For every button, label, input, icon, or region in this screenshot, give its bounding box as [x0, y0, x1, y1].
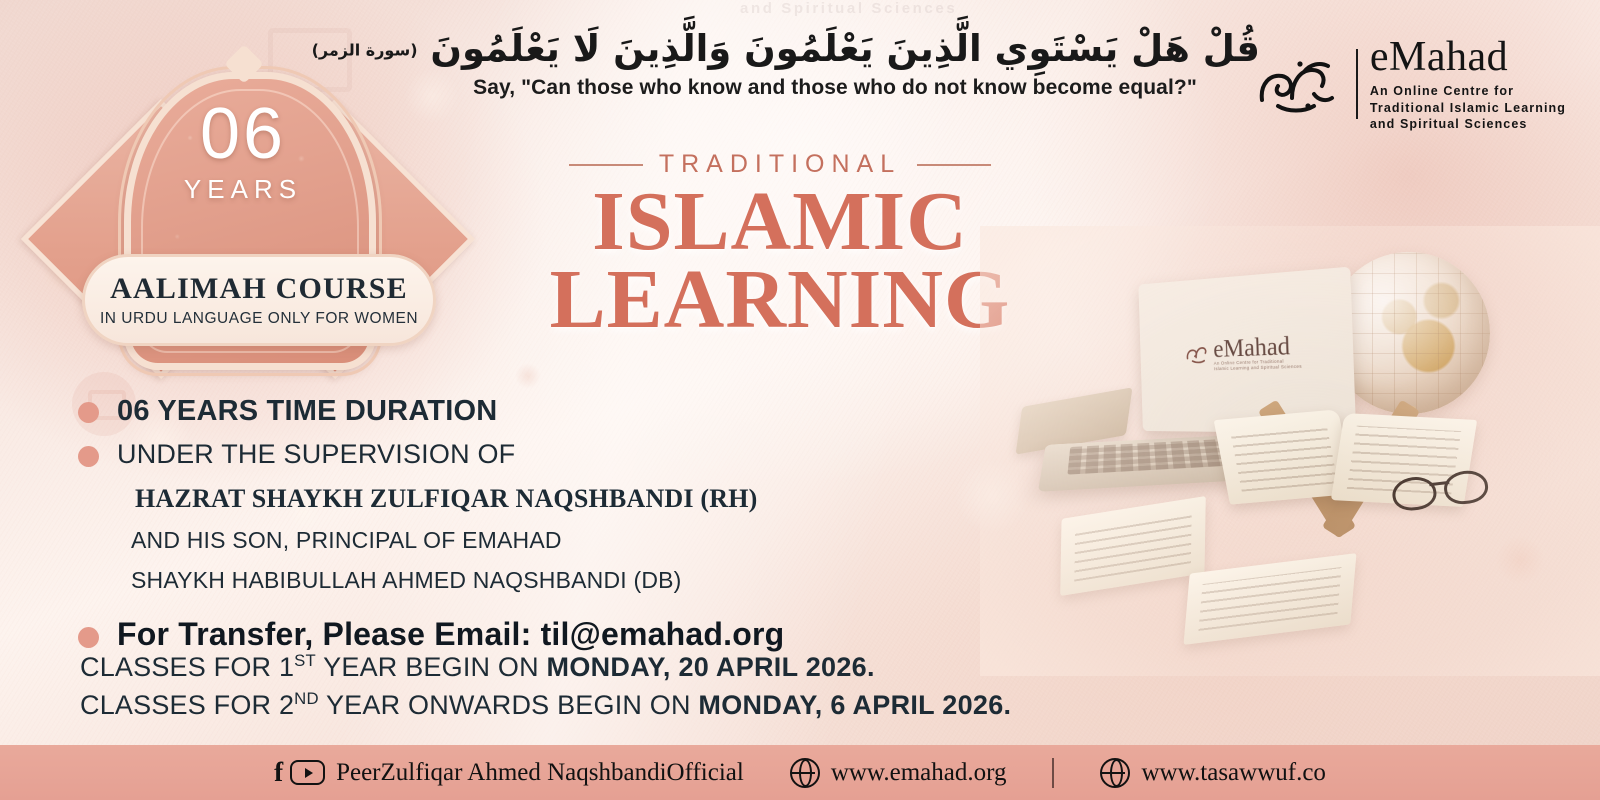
notebook-upper [1060, 496, 1206, 596]
badge-years-label: YEARS [124, 174, 362, 205]
bullet-dot-icon [78, 627, 99, 648]
badge-course-subtitle: IN URDU LANGUAGE ONLY FOR WOMEN [100, 311, 418, 327]
facebook-icon[interactable]: f [274, 759, 283, 786]
headline-line-1: ISLAMIC [500, 183, 1060, 261]
detail-row-supervision: UNDER THE SUPERVISION OF [78, 440, 1038, 470]
glasses-lens-left [1391, 475, 1439, 513]
notebook-lower [1184, 553, 1357, 645]
badge-course-banner: AALIMAH COURSE IN URDU LANGUAGE ONLY FOR… [82, 254, 436, 346]
class-start-dates: CLASSES FOR 1ST YEAR BEGIN ON MONDAY, 20… [80, 648, 1011, 725]
date-line-1-ordinal: ST [294, 651, 316, 670]
bullet-dot-icon [78, 446, 99, 467]
detail-duration-text: 06 YEARS TIME DURATION [117, 396, 497, 428]
logo-text-block: eMahad An Online Centre for Traditional … [1370, 36, 1566, 133]
screen-logo-tagline-2: Islamic Learning and Spiritual Sciences [1213, 365, 1301, 373]
arabic-calligraphy-icon [1248, 48, 1344, 120]
logo-tagline-line-2: Traditional Islamic Learning [1370, 100, 1566, 117]
date-line-first-year: CLASSES FOR 1ST YEAR BEGIN ON MONDAY, 20… [80, 648, 1011, 686]
screen-calligraphy-icon [1183, 342, 1209, 370]
youtube-icon[interactable] [290, 760, 325, 785]
badge-course-title: AALIMAH COURSE [110, 274, 408, 304]
logo-tagline-line-1: An Online Centre for [1370, 83, 1566, 100]
book-text-lines [1230, 422, 1338, 491]
footer-social[interactable]: f PeerZulfiqar Ahmed NaqshbandiOfficial [274, 759, 744, 786]
date-line-1-value: MONDAY, 20 APRIL 2026. [547, 652, 875, 682]
logo-divider [1356, 49, 1358, 119]
footer-social-icons: f [274, 759, 325, 786]
date-line-1-prefix: CLASSES FOR 1 [80, 652, 294, 682]
glasses-lens-right [1442, 468, 1490, 506]
logo-name: eMahad [1370, 36, 1566, 78]
detail-row-duration: 06 YEARS TIME DURATION [78, 396, 1038, 428]
footer-bar: f PeerZulfiqar Ahmed NaqshbandiOfficial … [0, 745, 1600, 800]
footer-social-handle[interactable]: PeerZulfiqar Ahmed NaqshbandiOfficial [336, 760, 744, 785]
book-text-lines [1074, 510, 1191, 581]
detail-supervision-text: UNDER THE SUPERVISION OF [117, 440, 515, 470]
footer-website-1-text[interactable]: www.emahad.org [831, 760, 1007, 785]
screen-logo: eMahad An Online Centre for Traditional … [1183, 333, 1302, 374]
footer-separator [1052, 758, 1054, 788]
supervisor-secondary: SHAYKH HABIBULLAH AHMED NAQSHBANDI (DB) [131, 567, 1038, 594]
date-line-2-prefix: CLASSES FOR 2 [80, 690, 294, 720]
watermark-text: and Spiritual Sciences [740, 0, 957, 17]
badge-duration: 06 YEARS [124, 98, 362, 205]
footer-website-1[interactable]: www.emahad.org [790, 758, 1007, 788]
quran-verse-block: قُلْ هَلْ يَسْتَوِي الَّذِينَ يَعْلَمُون… [410, 24, 1260, 100]
kicker-rule-right [917, 164, 991, 166]
promotional-banner: and Spiritual Sciences 06 YEARS AALIMAH … [0, 0, 1600, 800]
logo-tagline-line-3: and Spiritual Sciences [1370, 116, 1566, 133]
supervisor-note: AND HIS SON, PRINCIPAL OF EMAHAD [131, 527, 1038, 554]
date-line-second-year: CLASSES FOR 2ND YEAR ONWARDS BEGIN ON MO… [80, 686, 1011, 724]
kicker-rule-left [569, 164, 643, 166]
headline-block: TRADITIONAL ISLAMIC LEARNING [500, 150, 1060, 339]
supervisor-primary: HAZRAT SHAYKH ZULFIQAR NAQSHBANDI (RH) [135, 484, 1038, 514]
verse-arabic: قُلْ هَلْ يَسْتَوِي الَّذِينَ يَعْلَمُون… [410, 24, 1260, 74]
badge-number: 06 [124, 98, 362, 170]
bullet-dot-icon [78, 402, 99, 423]
course-details: 06 YEARS TIME DURATION UNDER THE SUPERVI… [78, 396, 1038, 653]
footer-website-2-text[interactable]: www.tasawwuf.co [1141, 760, 1325, 785]
logo-tagline: An Online Centre for Traditional Islamic… [1370, 83, 1566, 133]
globe-icon [1100, 758, 1130, 788]
book-text-lines [1198, 567, 1341, 631]
verse-translation: Say, "Can those who know and those who d… [410, 76, 1260, 100]
screen-logo-name: eMahad [1213, 333, 1302, 362]
footer-website-2[interactable]: www.tasawwuf.co [1100, 758, 1325, 788]
date-line-2-ordinal: ND [294, 689, 319, 708]
verse-reference: (سورة الزمر) [312, 41, 418, 60]
screen-logo-text: eMahad An Online Centre for Traditional … [1213, 333, 1302, 373]
headline-line-2: LEARNING [500, 261, 1060, 339]
date-line-2-value: MONDAY, 6 APRIL 2026. [698, 690, 1011, 720]
brand-logo: eMahad An Online Centre for Traditional … [1248, 36, 1566, 133]
course-badge: 06 YEARS AALIMAH COURSE IN URDU LANGUAGE… [48, 64, 438, 364]
globe-icon [790, 758, 820, 788]
verse-arabic-text: قُلْ هَلْ يَسْتَوِي الَّذِينَ يَعْلَمُون… [430, 27, 1260, 70]
study-illustration: eMahad An Online Centre for Traditional … [1000, 246, 1600, 666]
laptop-screen: eMahad An Online Centre for Traditional … [1138, 267, 1356, 434]
date-line-1-middle: YEAR BEGIN ON [316, 652, 547, 682]
date-line-2-middle: YEAR ONWARDS BEGIN ON [319, 690, 699, 720]
